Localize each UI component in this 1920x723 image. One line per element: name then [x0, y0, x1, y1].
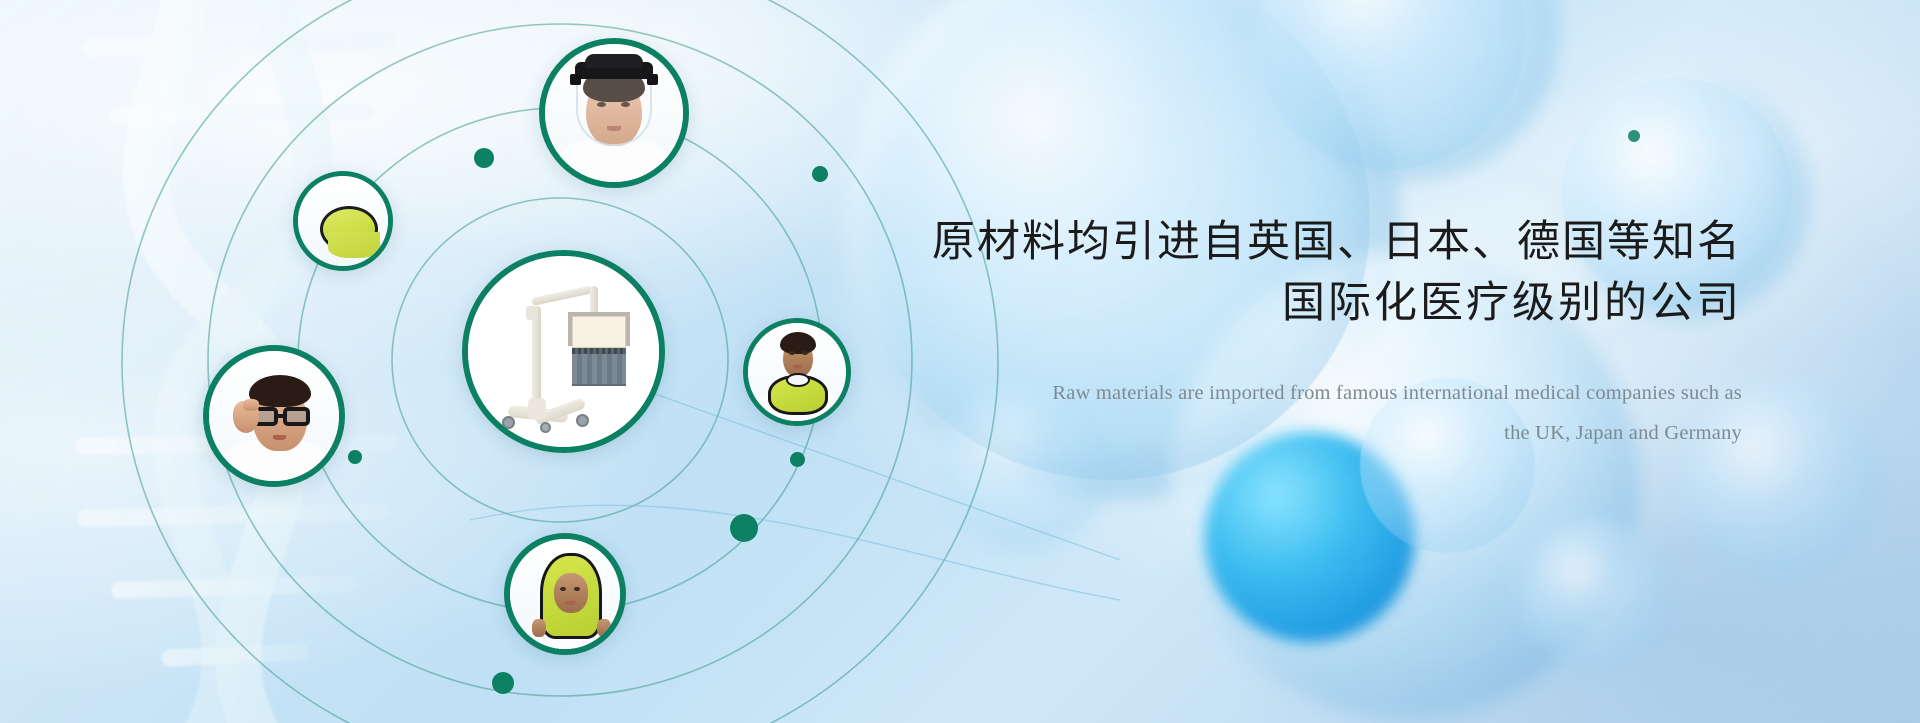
- lead-glasses-photo: [209, 351, 339, 481]
- bubble-lead-glasses[interactable]: [203, 345, 345, 487]
- subtitle-line-2: the UK, Japan and Germany: [922, 414, 1742, 454]
- accent-dot-3: [348, 450, 362, 464]
- headline-line-1: 原材料均引进自英国、日本、德国等知名: [922, 212, 1742, 273]
- accent-dot-5: [730, 514, 758, 542]
- headline-line-2: 国际化医疗级别的公司: [922, 273, 1742, 334]
- accent-dot-7: [1628, 130, 1640, 142]
- bubble-mobile-lead-screen[interactable]: [462, 250, 665, 453]
- lead-cap-icon: [298, 176, 388, 266]
- face-shield-photo: [545, 44, 683, 182]
- banner-copy: 原材料均引进自英国、日本、德国等知名 国际化医疗级别的公司 Raw materi…: [922, 212, 1742, 454]
- accent-dot-6: [492, 672, 514, 694]
- subtitle-line-1: Raw materials are imported from famous i…: [922, 374, 1742, 414]
- subtitle: Raw materials are imported from famous i…: [922, 374, 1742, 454]
- accent-dot-4: [790, 452, 805, 467]
- bubble-lead-hood[interactable]: [504, 533, 626, 655]
- lead-hood-photo: [510, 539, 620, 649]
- bubble-face-shield[interactable]: [539, 38, 689, 188]
- hero-banner: 原材料均引进自英国、日本、德国等知名 国际化医疗级别的公司 Raw materi…: [0, 0, 1920, 723]
- thyroid-collar-photo: [748, 323, 846, 421]
- bubble-thyroid-collar[interactable]: [743, 318, 851, 426]
- bubble-lead-cap[interactable]: [293, 171, 393, 271]
- accent-dot-1: [474, 148, 494, 168]
- mobile-lead-screen-photo: [468, 256, 659, 447]
- accent-dot-2: [812, 166, 828, 182]
